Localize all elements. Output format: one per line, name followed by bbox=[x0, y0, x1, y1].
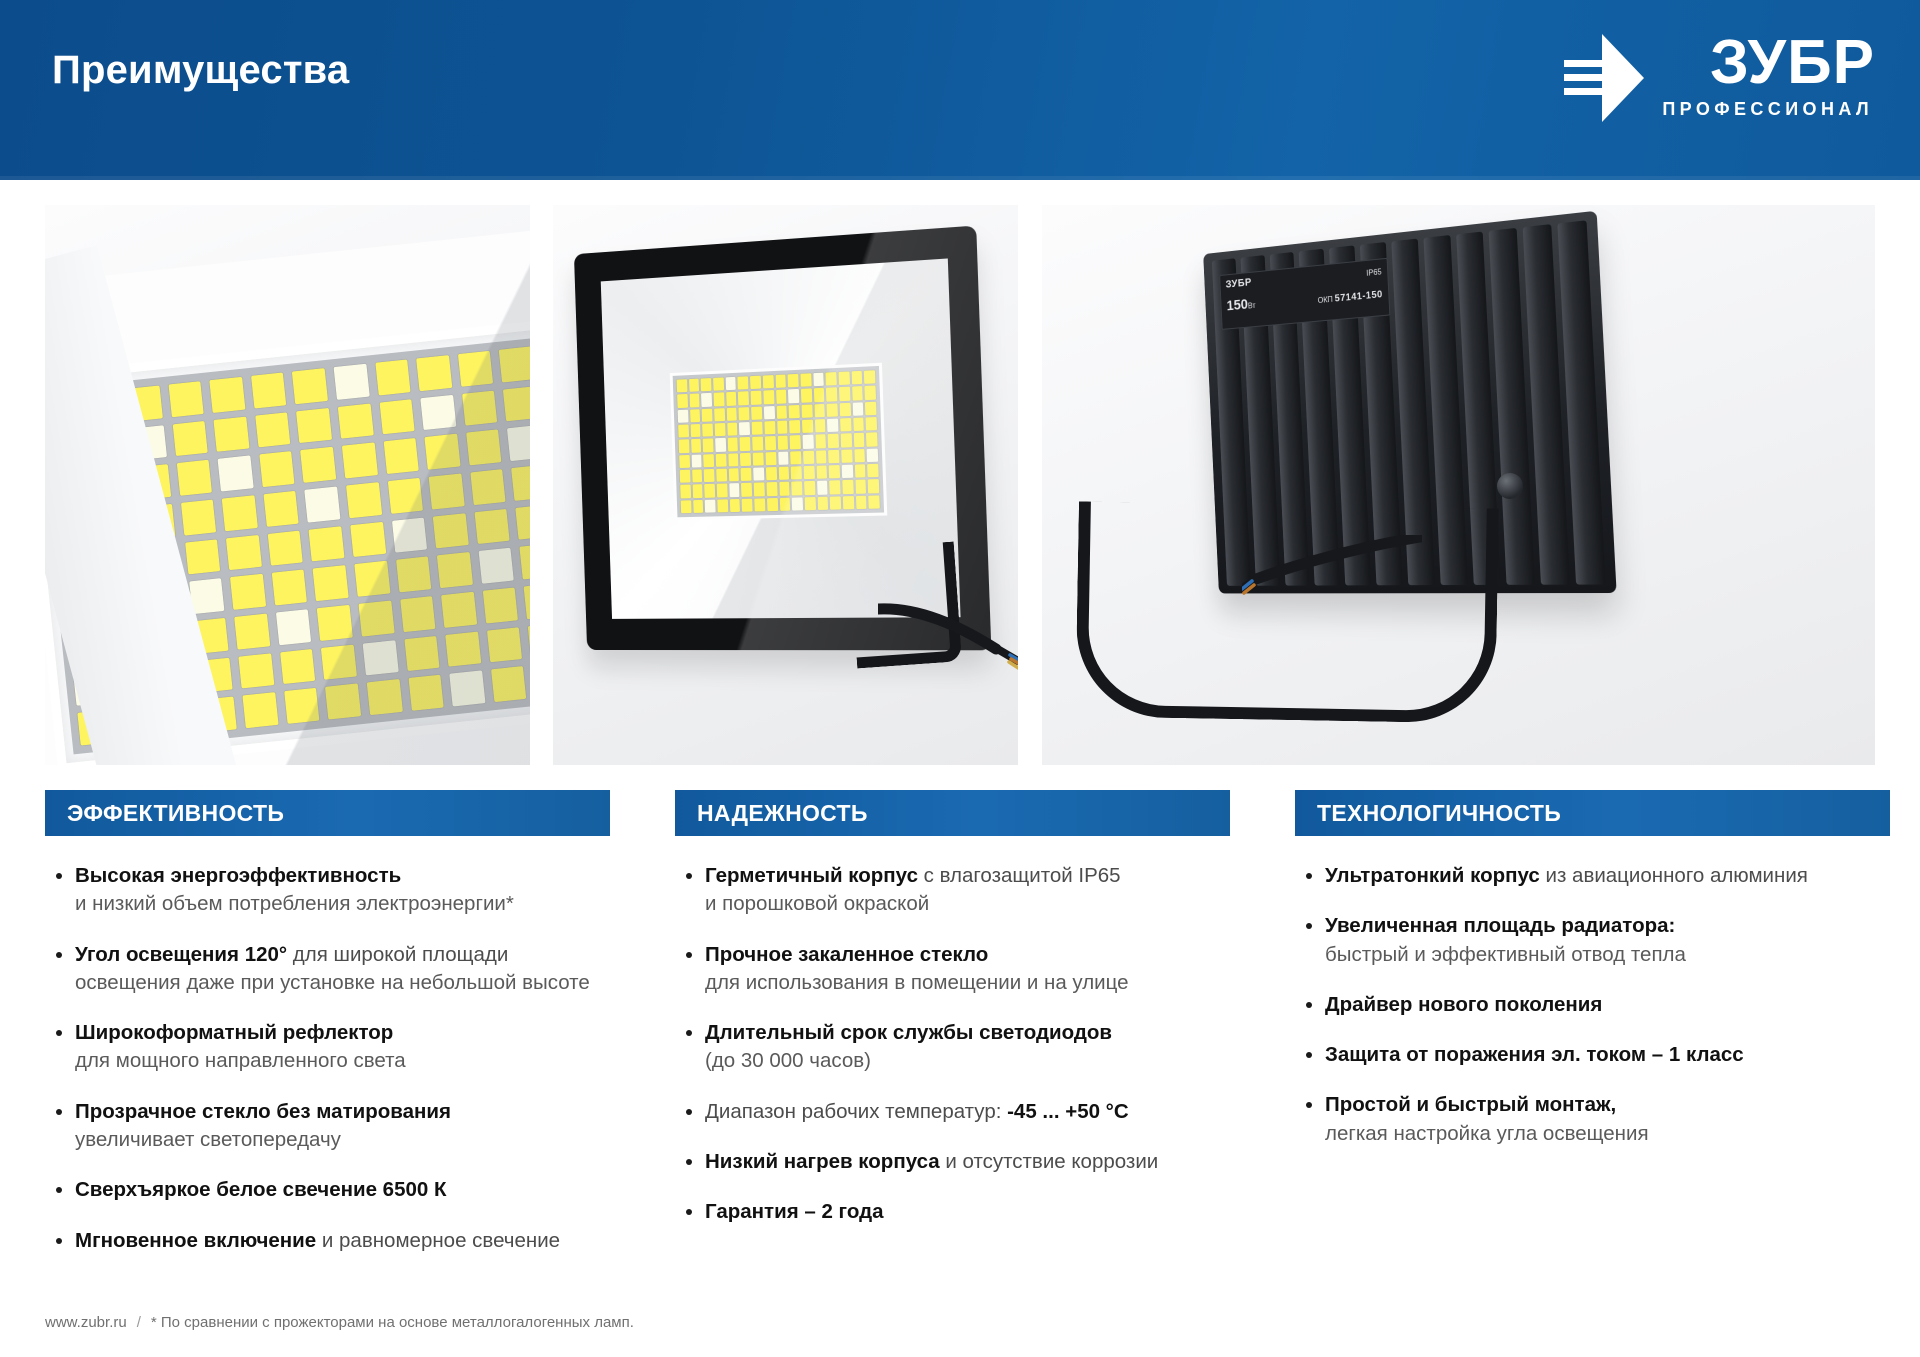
photo-floodlight-front bbox=[553, 205, 1018, 765]
list-item: Защита от поражения эл. током – 1 класс bbox=[1301, 1041, 1898, 1069]
bullet-lead: Диапазон рабочих температур: bbox=[705, 1100, 1007, 1123]
brand-logo: ЗУБР ПРОФЕССИОНАЛ bbox=[1562, 32, 1875, 124]
list-item: Высокая энергоэффективность и низкий объ… bbox=[51, 862, 618, 919]
logo-text: ЗУБР ПРОФЕССИОНАЛ bbox=[1662, 34, 1875, 120]
column-heading-efficiency: ЭФФЕКТИВНОСТЬ bbox=[45, 790, 610, 836]
list-item: Сверхъяркое белое свечение 6500 К bbox=[51, 1176, 618, 1204]
column-heading-label: НАДЕЖНОСТЬ bbox=[697, 800, 868, 827]
column-reliability: НАДЕЖНОСТЬ Герметичный корпус с влагозащ… bbox=[640, 790, 1260, 1290]
bullet-strong: -45 ... +50 °C bbox=[1007, 1100, 1129, 1123]
list-item: Длительный срок службы светодиодов (до 3… bbox=[681, 1019, 1238, 1076]
power-cable bbox=[1242, 535, 1422, 605]
bullet-sub: и порошковой окраской bbox=[705, 890, 1238, 918]
zubr-diamond-icon bbox=[1562, 32, 1646, 124]
bullet-sub: (до 30 000 часов) bbox=[705, 1047, 1238, 1075]
bullet-strong: Широкоформатный рефлектор bbox=[75, 1021, 393, 1044]
bullet-sub: для мощного направленного света bbox=[75, 1047, 618, 1075]
bullet-tail: и отсутствие коррозии bbox=[940, 1150, 1159, 1173]
bullet-list-reliability: Герметичный корпус с влагозащитой IP65 и… bbox=[675, 862, 1238, 1227]
tilt-knob bbox=[1497, 473, 1523, 499]
list-item: Прочное закаленное стекло для использова… bbox=[681, 941, 1238, 998]
column-heading-label: ЭФФЕКТИВНОСТЬ bbox=[67, 800, 284, 827]
photo-led-array-closeup bbox=[45, 205, 530, 765]
column-efficiency: ЭФФЕКТИВНОСТЬ Высокая энергоэффективност… bbox=[0, 790, 640, 1290]
bullet-strong: Простой и быстрый монтаж, bbox=[1325, 1093, 1616, 1116]
bullet-strong: Высокая энергоэффективность bbox=[75, 864, 401, 887]
logo-wordmark: ЗУБР bbox=[1710, 34, 1875, 93]
bullet-sub: увеличивает светопередачу bbox=[75, 1126, 618, 1154]
column-technology: ТЕХНОЛОГИЧНОСТЬ Ультратонкий корпус из а… bbox=[1260, 790, 1920, 1290]
led-panel-body bbox=[45, 224, 530, 765]
list-item: Гарантия – 2 года bbox=[681, 1198, 1238, 1226]
bullet-tail: для широкой площади bbox=[287, 943, 508, 966]
bullet-strong: Длительный срок службы светодиодов bbox=[705, 1021, 1112, 1044]
advantages-page: Преимущества ЗУБР ПРОФЕССИОНАЛ bbox=[0, 0, 1920, 1357]
list-item: Увеличенная площадь радиатора: быстрый и… bbox=[1301, 912, 1898, 969]
label-ip: IP65 bbox=[1366, 267, 1382, 278]
bullet-strong: Драйвер нового поколения bbox=[1325, 993, 1602, 1016]
bullet-list-efficiency: Высокая энергоэффективность и низкий объ… bbox=[45, 862, 618, 1255]
bullet-strong: Сверхъяркое белое свечение 6500 К bbox=[75, 1178, 446, 1201]
label-power: 150 bbox=[1226, 296, 1248, 314]
bullet-strong: Ультратонкий корпус bbox=[1325, 864, 1540, 887]
list-item: Прозрачное стекло без матирования увелич… bbox=[51, 1098, 618, 1155]
bullet-strong: Низкий нагрев корпуса bbox=[705, 1150, 940, 1173]
label-code: 57141-150 bbox=[1335, 289, 1383, 304]
bullet-sub: и низкий объем потребления электроэнерги… bbox=[75, 890, 618, 918]
bullet-strong: Увеличенная площадь радиатора: bbox=[1325, 914, 1675, 937]
list-item: Простой и быстрый монтаж, легкая настрой… bbox=[1301, 1091, 1898, 1148]
bullet-strong: Защита от поражения эл. током – 1 класс bbox=[1325, 1043, 1744, 1066]
bullet-tail: и равномерное свечение bbox=[316, 1229, 560, 1252]
advantages-columns: ЭФФЕКТИВНОСТЬ Высокая энергоэффективност… bbox=[0, 790, 1920, 1290]
led-grid bbox=[670, 363, 888, 521]
bullet-sub: для использования в помещении и на улице bbox=[705, 969, 1238, 997]
bullet-strong: Мгновенное включение bbox=[75, 1229, 316, 1252]
label-code-prefix: ОКП bbox=[1318, 295, 1333, 305]
column-heading-reliability: НАДЕЖНОСТЬ bbox=[675, 790, 1230, 836]
page-header: Преимущества ЗУБР ПРОФЕССИОНАЛ bbox=[0, 0, 1920, 180]
page-footer: www.zubr.ru / * По сравнении с прожектор… bbox=[45, 1314, 634, 1331]
label-brand: ЗУБР bbox=[1225, 277, 1252, 293]
column-heading-label: ТЕХНОЛОГИЧНОСТЬ bbox=[1317, 800, 1561, 827]
list-item: Ультратонкий корпус из авиационного алюм… bbox=[1301, 862, 1898, 890]
footer-separator: / bbox=[137, 1314, 141, 1331]
logo-tagline: ПРОФЕССИОНАЛ bbox=[1662, 99, 1873, 120]
bullet-list-technology: Ультратонкий корпус из авиационного алюм… bbox=[1295, 862, 1898, 1148]
bullet-sub: легкая настройка угла освещения bbox=[1325, 1120, 1898, 1148]
photo-floodlight-back: ЗУБР IP65 150Вт ОКП 57141-150 bbox=[1042, 205, 1875, 765]
power-cable bbox=[878, 603, 1018, 673]
footer-note: * По сравнении с прожекторами на основе … bbox=[151, 1314, 634, 1331]
page-title: Преимущества bbox=[52, 48, 349, 93]
list-item: Драйвер нового поколения bbox=[1301, 991, 1898, 1019]
list-item: Герметичный корпус с влагозащитой IP65 и… bbox=[681, 862, 1238, 919]
bullet-strong: Угол освещения 120° bbox=[75, 943, 287, 966]
bullet-strong: Гарантия – 2 года bbox=[705, 1200, 883, 1223]
list-item: Широкоформатный рефлектор для мощного на… bbox=[51, 1019, 618, 1076]
bullet-sub: быстрый и эффективный отвод тепла bbox=[1325, 941, 1898, 969]
bullet-tail: из авиационного алюминия bbox=[1540, 864, 1808, 887]
list-item: Диапазон рабочих температур: -45 ... +50… bbox=[681, 1098, 1238, 1126]
bullet-sub: освещения даже при установке на небольшо… bbox=[75, 969, 618, 997]
bullet-strong: Герметичный корпус bbox=[705, 864, 918, 887]
list-item: Угол освещения 120° для широкой площади … bbox=[51, 941, 618, 998]
bullet-strong: Прочное закаленное стекло bbox=[705, 943, 988, 966]
list-item: Мгновенное включение и равномерное свече… bbox=[51, 1227, 618, 1255]
product-photo-row: ЗУБР IP65 150Вт ОКП 57141-150 bbox=[0, 180, 1920, 790]
label-power-unit: Вт bbox=[1248, 301, 1256, 310]
list-item: Низкий нагрев корпуса и отсутствие корро… bbox=[681, 1148, 1238, 1176]
bullet-tail: с влагозащитой IP65 bbox=[918, 864, 1121, 887]
footer-website[interactable]: www.zubr.ru bbox=[45, 1314, 127, 1331]
bullet-strong: Прозрачное стекло без матирования bbox=[75, 1100, 451, 1123]
column-heading-technology: ТЕХНОЛОГИЧНОСТЬ bbox=[1295, 790, 1890, 836]
